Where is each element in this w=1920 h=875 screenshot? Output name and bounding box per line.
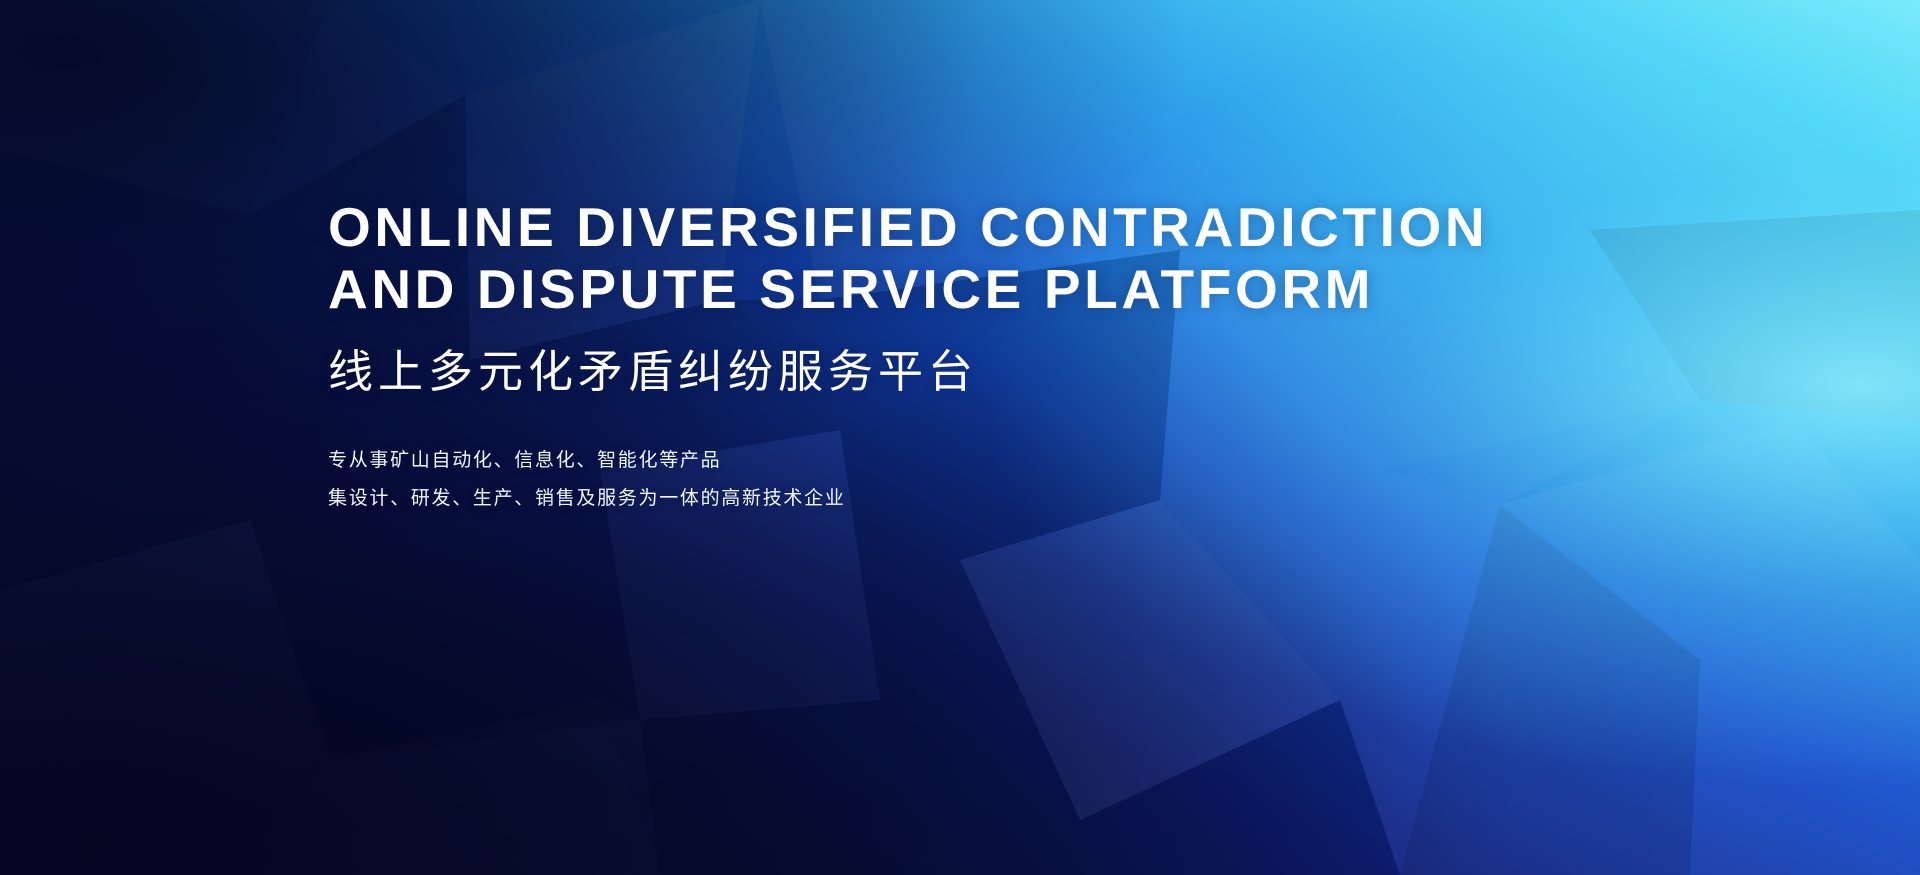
hero-content: Online Diversified Contradiction and Dis… [328,196,1648,518]
hero-description: 专从事矿山自动化、信息化、智能化等产品 集设计、研发、生产、销售及服务为一体的高… [328,442,1648,518]
hero-banner: Online Diversified Contradiction and Dis… [0,0,1920,875]
description-line: 集设计、研发、生产、销售及服务为一体的高新技术企业 [328,480,1648,518]
hero-subtitle: 线上多元化矛盾纠纷服务平台 [328,346,1648,398]
description-line: 专从事矿山自动化、信息化、智能化等产品 [328,442,1648,480]
hero-headline: Online Diversified Contradiction and Dis… [328,196,1648,320]
